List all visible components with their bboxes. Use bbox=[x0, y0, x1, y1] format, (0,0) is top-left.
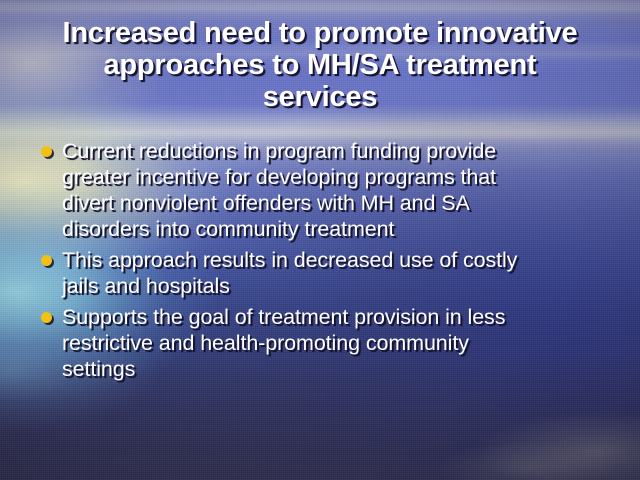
bullet-line: This approach results in decreased use o… bbox=[62, 247, 622, 273]
bullet-item: This approach results in decreased use o… bbox=[36, 247, 622, 299]
slide-bullet-list: Current reductions in program funding pr… bbox=[36, 138, 622, 387]
circle-bullet-icon bbox=[41, 255, 52, 266]
bullet-line: disorders into community treatment bbox=[62, 216, 622, 242]
bullet-line: settings bbox=[62, 356, 622, 382]
presentation-slide: Increased need to promote innovative app… bbox=[0, 0, 640, 480]
slide-title: Increased need to promote innovative app… bbox=[26, 17, 614, 113]
bullet-line: Supports the goal of treatment provision… bbox=[62, 304, 622, 330]
circle-bullet-icon bbox=[41, 312, 52, 323]
slide-content: Increased need to promote innovative app… bbox=[0, 0, 640, 480]
bullet-line: jails and hospitals bbox=[62, 273, 622, 299]
bullet-line: Current reductions in program funding pr… bbox=[62, 138, 622, 164]
title-line-3: services bbox=[26, 81, 614, 113]
title-line-1: Increased need to promote innovative bbox=[26, 17, 614, 49]
bullet-line: divert nonviolent offenders with MH and … bbox=[62, 190, 622, 216]
circle-bullet-icon bbox=[41, 146, 52, 157]
bullet-line: restrictive and health-promoting communi… bbox=[62, 330, 622, 356]
bullet-item: Supports the goal of treatment provision… bbox=[36, 304, 622, 382]
bullet-line: greater incentive for developing program… bbox=[62, 164, 622, 190]
bullet-item: Current reductions in program funding pr… bbox=[36, 138, 622, 242]
title-line-2: approaches to MH/SA treatment bbox=[26, 49, 614, 81]
